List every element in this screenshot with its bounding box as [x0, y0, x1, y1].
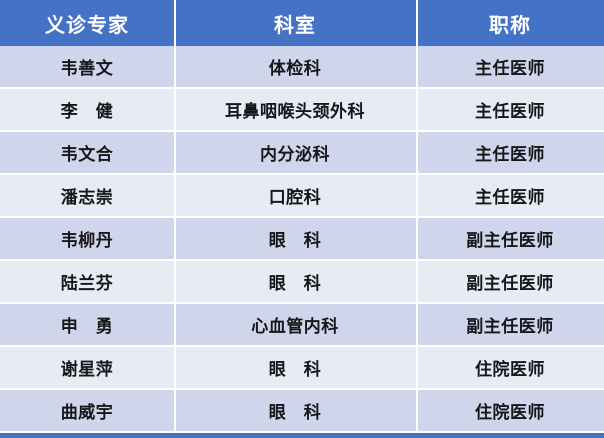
table-body: 韦善文 体检科 主任医师 李 健 耳鼻咽喉头颈外科 主任医师 韦文合 内分泌科 … [0, 46, 604, 433]
table-row: 陆兰芬 眼 科 副主任医师 [0, 261, 604, 304]
cell-expert-name: 谢星萍 [0, 347, 174, 388]
cell-department: 体检科 [174, 46, 416, 87]
cell-department: 心血管内科 [174, 304, 416, 345]
department-text: 体检科 [269, 54, 322, 79]
table-header-row: 义诊专家 科室 职称 [0, 0, 604, 46]
cell-professional-title: 住院医师 [416, 390, 604, 431]
department-text: 眼 科 [269, 398, 322, 423]
expert-name-text: 谢星萍 [61, 355, 114, 380]
cell-expert-name: 潘志崇 [0, 175, 174, 216]
cell-professional-title: 住院医师 [416, 347, 604, 388]
table-row: 韦文合 内分泌科 主任医师 [0, 132, 604, 175]
cell-professional-title: 副主任医师 [416, 261, 604, 302]
cell-department: 眼 科 [174, 390, 416, 431]
column-header-expert-label: 义诊专家 [45, 9, 129, 38]
cell-department: 眼 科 [174, 218, 416, 259]
cell-expert-name: 陆兰芬 [0, 261, 174, 302]
professional-title-text: 副主任医师 [466, 226, 554, 251]
department-text: 口腔科 [269, 183, 322, 208]
cell-professional-title: 副主任医师 [416, 304, 604, 345]
cell-professional-title: 主任医师 [416, 89, 604, 130]
column-header-department: 科室 [174, 0, 416, 46]
department-text: 耳鼻咽喉头颈外科 [225, 97, 365, 122]
cell-professional-title: 主任医师 [416, 46, 604, 87]
cell-expert-name: 韦文合 [0, 132, 174, 173]
professional-title-text: 住院医师 [475, 398, 545, 423]
department-text: 内分泌科 [260, 140, 330, 165]
cell-department: 口腔科 [174, 175, 416, 216]
cell-expert-name: 韦善文 [0, 46, 174, 87]
expert-name-text: 潘志崇 [61, 183, 114, 208]
professional-title-text: 主任医师 [475, 97, 545, 122]
column-header-department-label: 科室 [274, 9, 316, 38]
expert-name-text: 韦善文 [61, 54, 114, 79]
expert-name-text: 曲威宇 [61, 398, 114, 423]
department-text: 眼 科 [269, 226, 322, 251]
cell-professional-title: 主任医师 [416, 132, 604, 173]
expert-name-text: 陆兰芬 [61, 269, 114, 294]
table-row: 韦善文 体检科 主任医师 [0, 46, 604, 89]
professional-title-text: 副主任医师 [466, 312, 554, 337]
column-header-title-label: 职称 [489, 9, 531, 38]
department-text: 眼 科 [269, 355, 322, 380]
department-text: 心血管内科 [251, 312, 339, 337]
table-row: 曲威宇 眼 科 住院医师 [0, 390, 604, 433]
professional-title-text: 主任医师 [475, 54, 545, 79]
table-row: 韦柳丹 眼 科 副主任医师 [0, 218, 604, 261]
column-header-expert: 义诊专家 [0, 0, 174, 46]
table-row: 申 勇 心血管内科 副主任医师 [0, 304, 604, 347]
cell-department: 眼 科 [174, 347, 416, 388]
table-row: 谢星萍 眼 科 住院医师 [0, 347, 604, 390]
cell-department: 耳鼻咽喉头颈外科 [174, 89, 416, 130]
cell-professional-title: 主任医师 [416, 175, 604, 216]
professional-title-text: 主任医师 [475, 140, 545, 165]
expert-name-text: 申 勇 [61, 312, 114, 337]
expert-name-text: 李 健 [61, 97, 114, 122]
professional-title-text: 副主任医师 [466, 269, 554, 294]
department-text: 眼 科 [269, 269, 322, 294]
cell-professional-title: 副主任医师 [416, 218, 604, 259]
cell-department: 眼 科 [174, 261, 416, 302]
expert-name-text: 韦文合 [61, 140, 114, 165]
cell-expert-name: 李 健 [0, 89, 174, 130]
column-header-title: 职称 [416, 0, 604, 46]
expert-name-text: 韦柳丹 [61, 226, 114, 251]
professional-title-text: 住院医师 [475, 355, 545, 380]
table-bottom-rule [0, 433, 604, 438]
expert-clinic-table: 义诊专家 科室 职称 韦善文 体检科 主任医师 李 健 耳鼻咽喉头颈外科 主任医… [0, 0, 604, 438]
table-row: 李 健 耳鼻咽喉头颈外科 主任医师 [0, 89, 604, 132]
cell-expert-name: 申 勇 [0, 304, 174, 345]
table-row: 潘志崇 口腔科 主任医师 [0, 175, 604, 218]
cell-expert-name: 韦柳丹 [0, 218, 174, 259]
cell-expert-name: 曲威宇 [0, 390, 174, 431]
professional-title-text: 主任医师 [475, 183, 545, 208]
cell-department: 内分泌科 [174, 132, 416, 173]
